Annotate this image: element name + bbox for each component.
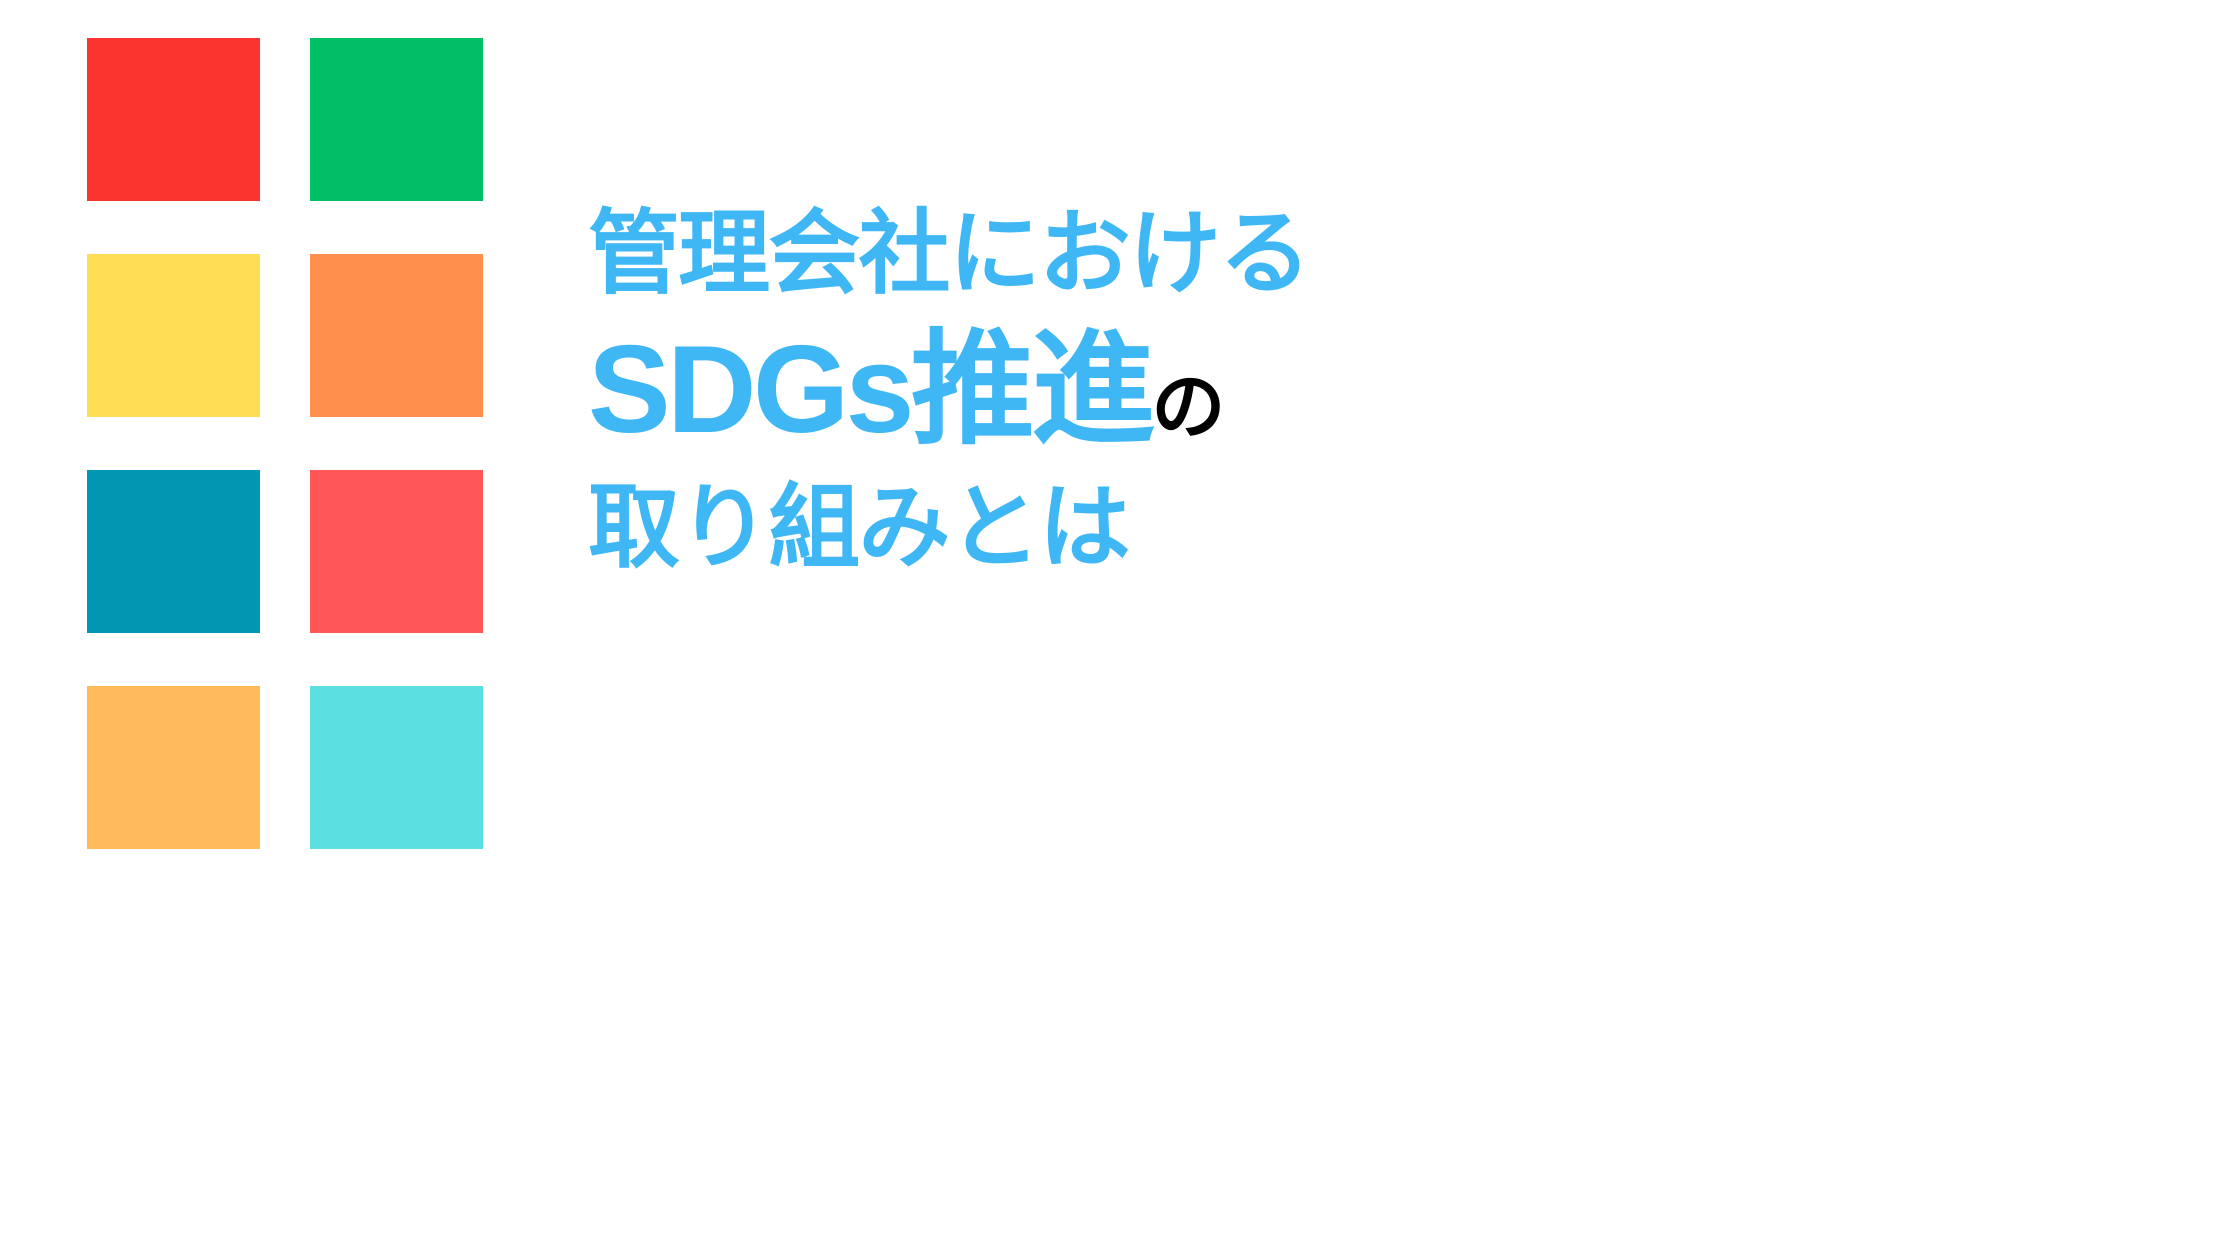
swatch-teal [87, 470, 260, 633]
headline-line-1: 管理会社における [588, 208, 2008, 300]
slide-canvas: 管理会社における SDGs推進の 取り組みとは [0, 0, 2240, 1260]
swatch-red [87, 38, 260, 201]
sdgs-color-swatch-grid [87, 38, 483, 843]
swatch-orange [310, 254, 483, 417]
headline-line-3: 取り組みとは [588, 482, 2008, 574]
swatch-yellow [87, 254, 260, 417]
swatch-cyan [310, 686, 483, 849]
swatch-coral [310, 470, 483, 633]
headline-line-2: SDGs推進の [588, 328, 2008, 452]
headline-suffix-no: の [1151, 365, 1223, 448]
swatch-green [310, 38, 483, 201]
swatch-light-orange [87, 686, 260, 849]
headline-emphasis-sdgs: SDGs推進 [588, 321, 1151, 459]
headline-block: 管理会社における SDGs推進の 取り組みとは [588, 208, 2008, 574]
